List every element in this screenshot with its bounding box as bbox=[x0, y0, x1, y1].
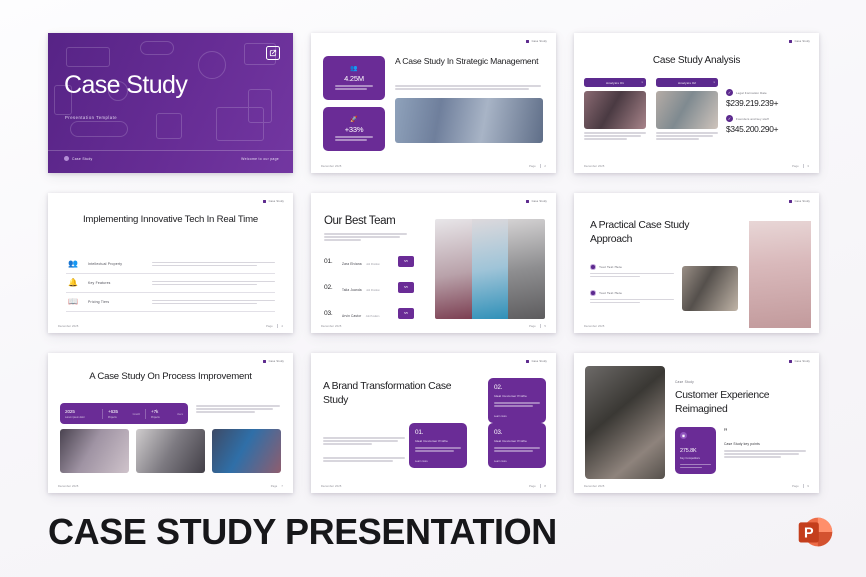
footer-page-number: 8 bbox=[544, 485, 546, 488]
photo-strip bbox=[60, 429, 281, 473]
badge-square-icon bbox=[526, 360, 529, 363]
bell-icon: 🔔 bbox=[66, 279, 80, 287]
slide-thumbnail-customer-experience[interactable]: Case Study Case Study Customer Experienc… bbox=[574, 353, 819, 493]
target-icon: ◉ bbox=[680, 432, 687, 439]
check-circle-icon: ✓ bbox=[726, 115, 733, 122]
feature-row-label: Key Features bbox=[88, 281, 144, 285]
analysis-stat-1-label: Legal Formation Date bbox=[736, 91, 767, 95]
footer-page: Page 2 bbox=[529, 164, 546, 168]
people-network-icon: 👥 bbox=[350, 66, 357, 72]
list-item: 02. Talia Juanda Job Position 5/5 bbox=[324, 278, 414, 296]
badge-square-icon bbox=[789, 40, 792, 43]
list-item: 01. Zara Elviana Job Position 5/5 bbox=[324, 252, 414, 270]
analysis-photo-2 bbox=[656, 91, 718, 129]
slide-title: Implementing Innovative Tech In Real Tim… bbox=[74, 214, 267, 227]
slide-thumbnail-brand-transformation[interactable]: Case Study A Brand Transformation Case S… bbox=[311, 353, 556, 493]
badge-square-icon bbox=[789, 360, 792, 363]
feature-rows: 👥 Intellectual Property 🔔 Key Features 📖… bbox=[66, 255, 275, 312]
kpi-card: ◉ 275.8K Key Competitors bbox=[675, 427, 716, 474]
list-item: 03. Arvin Castor Job Position 5/5 bbox=[324, 304, 414, 322]
users-group-icon: 👥 bbox=[66, 260, 80, 268]
slide-footer: December 2025 Page 8 bbox=[321, 484, 546, 488]
slide-footer: December 2025 bbox=[584, 325, 809, 328]
member-name: Arvin Castor bbox=[342, 314, 361, 318]
slide-paragraph-2 bbox=[323, 457, 405, 462]
slide-paragraph bbox=[196, 405, 280, 413]
badge-label: Case Study bbox=[269, 360, 284, 363]
footer-page-number: 2 bbox=[544, 165, 546, 168]
slide-thumbnail-case-study-analysis[interactable]: Case Study Case Study Analysis Analysis … bbox=[574, 33, 819, 173]
stat-card-1: 👥 4.25M bbox=[323, 56, 385, 100]
card-title: Ideal Customer Profile bbox=[494, 439, 540, 443]
analysis-tab-1[interactable]: Analysis 01 ▾ bbox=[584, 78, 646, 87]
approach-bullet-2: Your Text Here bbox=[590, 290, 674, 303]
member-role: Job Position bbox=[366, 315, 380, 318]
badge-square-icon bbox=[263, 200, 266, 203]
chevron-down-icon: ▾ bbox=[641, 81, 643, 84]
footer-date: December 2025 bbox=[584, 165, 604, 168]
footer-page-number: 4 bbox=[281, 325, 283, 328]
open-slide-icon[interactable] bbox=[266, 46, 280, 60]
slide-eyebrow: Case Study bbox=[675, 380, 694, 384]
member-index: 01. bbox=[324, 258, 337, 265]
slide-title: A Case Study On Process Improvement bbox=[72, 371, 269, 384]
member-index: 02. bbox=[324, 284, 337, 291]
badge-square-icon bbox=[263, 360, 266, 363]
footer-page-label: Page bbox=[792, 485, 799, 488]
analysis-stat-1: ✓ Legal Formation Date $239.219.239+ bbox=[726, 89, 810, 108]
footer-page-label: Page bbox=[266, 325, 273, 328]
slide-paragraph-1 bbox=[323, 437, 405, 445]
dot-ring-icon bbox=[590, 264, 596, 270]
stat-key: Projects bbox=[108, 416, 140, 419]
kpi-value: 275.8K bbox=[680, 448, 711, 454]
quote-mark-icon: ” bbox=[724, 429, 806, 436]
badge-label: Case Study bbox=[795, 360, 810, 363]
stat-card-1-value: 4.25M bbox=[344, 74, 364, 83]
analysis-caption-2 bbox=[656, 132, 718, 140]
stat-key: Lorem ipsum dolor bbox=[65, 416, 97, 419]
slide-title: Our Best Team bbox=[324, 215, 395, 227]
footer-page-label: Page bbox=[529, 165, 536, 168]
slide-footer: December 2025 Page 3 bbox=[584, 164, 809, 168]
feature-row: 👥 Intellectual Property bbox=[66, 255, 275, 274]
quote-block: ” Case Study key points bbox=[724, 429, 806, 458]
footer-page: Page 7 bbox=[271, 485, 283, 488]
footer-date: December 2025 bbox=[321, 165, 341, 168]
feature-row-label: Pricing Tiers bbox=[88, 300, 144, 304]
slide-thumbnail-innovative-tech[interactable]: Case Study Implementing Innovative Tech … bbox=[48, 193, 293, 333]
footer-date: December 2025 bbox=[58, 325, 78, 328]
badge-label: Case Study bbox=[795, 200, 810, 203]
analysis-stat-1-value: $239.219.239+ bbox=[726, 98, 810, 108]
kpi-text bbox=[680, 464, 711, 469]
card-text bbox=[415, 447, 461, 452]
analysis-tab-2[interactable]: Analysis 02 ▾ bbox=[656, 78, 718, 87]
slide-badge: Case Study bbox=[526, 200, 547, 203]
poster-title: CASE STUDY PRESENTATION bbox=[48, 511, 557, 553]
badge-label: Case Study bbox=[532, 360, 547, 363]
profile-card-01[interactable]: 01. Ideal Customer Profile Learn more bbox=[409, 423, 467, 468]
footer-page-number: 9 bbox=[807, 485, 809, 488]
kpi-label: Key Competitors bbox=[680, 457, 711, 460]
desk-collaboration-photo bbox=[585, 366, 665, 479]
footer-page-label: Page bbox=[792, 165, 799, 168]
footer-page-label: Page bbox=[271, 485, 278, 488]
card-learn-more-link[interactable]: Learn more bbox=[494, 415, 507, 418]
cover-title: Case Study bbox=[64, 71, 187, 100]
footer-page-number: 3 bbox=[807, 165, 809, 168]
slide-title: A Practical Case Study Approach bbox=[590, 219, 730, 247]
card-learn-more-link[interactable]: Learn more bbox=[494, 460, 507, 463]
slide-thumbnail-cover[interactable]: Case Study Presentation Template Case St… bbox=[48, 33, 293, 173]
badge-square-icon bbox=[789, 200, 792, 203]
cover-pattern bbox=[48, 33, 293, 173]
slide-title: Case Study Analysis bbox=[574, 55, 819, 66]
slide-paragraph bbox=[395, 85, 541, 90]
badge-label: Case Study bbox=[795, 40, 810, 43]
svg-text:P: P bbox=[804, 525, 814, 541]
slide-badge: Case Study bbox=[789, 40, 810, 43]
approach-bullet-1-heading: Your Text Here bbox=[599, 265, 622, 269]
member-rating-button[interactable]: 5/5 bbox=[398, 256, 414, 267]
slide-title: A Brand Transformation Case Study bbox=[323, 380, 453, 408]
card-number: 01. bbox=[415, 429, 461, 436]
cover-welcome: Welcome to our page bbox=[241, 157, 279, 161]
approach-bullet-1-text bbox=[590, 273, 674, 278]
analysis-caption-1 bbox=[584, 132, 646, 140]
slide-badge: Case Study bbox=[263, 200, 284, 203]
cover-brand: Case Study bbox=[64, 156, 93, 161]
slide-thumbnail-our-best-team[interactable]: Case Study Our Best Team 01. Zara Elvian… bbox=[311, 193, 556, 333]
slide-paragraph bbox=[324, 233, 407, 241]
card-title: Ideal Customer Profile bbox=[415, 439, 461, 443]
badge-label: Case Study bbox=[532, 40, 547, 43]
footer-page-label: Page bbox=[529, 485, 536, 488]
slide-footer: December 2025 Page 5 bbox=[321, 324, 546, 328]
slide-footer: December 2025 Page 9 bbox=[584, 484, 809, 488]
stat-card-2-caption bbox=[335, 136, 373, 141]
check-circle-icon: ✓ bbox=[726, 89, 733, 96]
feature-row-text bbox=[152, 281, 275, 286]
footer-page-number: 7 bbox=[281, 485, 283, 488]
card-number: 02. bbox=[494, 384, 540, 391]
dot-ring-icon bbox=[590, 290, 596, 296]
badge-square-icon bbox=[526, 40, 529, 43]
slide-thumbnail-strategic-management[interactable]: Case Study 👥 4.25M 🚀 +33% A Case Study I… bbox=[311, 33, 556, 173]
office-workshop-photo bbox=[682, 266, 738, 311]
analysis-tab-2-label: Analysis 02 bbox=[678, 81, 696, 85]
footer-date: December 2025 bbox=[584, 485, 604, 488]
approach-bullet-2-text bbox=[590, 299, 674, 304]
slide-badge: Case Study bbox=[526, 360, 547, 363]
analysis-tab-1-label: Analysis 01 bbox=[606, 81, 624, 85]
badge-label: Case Study bbox=[269, 200, 284, 203]
analysis-stat-2-label: Founders and key staff bbox=[736, 117, 769, 121]
feature-row-text bbox=[152, 300, 275, 305]
footer-date: December 2025 bbox=[58, 485, 78, 488]
footer-page-label: Page bbox=[529, 325, 536, 328]
member-rating-button[interactable]: 5/5 bbox=[398, 308, 414, 319]
footer-date: December 2025 bbox=[584, 325, 604, 328]
footer-page: Page 9 bbox=[792, 484, 809, 488]
footer-page: Page 8 bbox=[529, 484, 546, 488]
footer-page: Page 3 bbox=[792, 164, 809, 168]
slide-footer: December 2025 Page 4 bbox=[58, 324, 283, 328]
member-name: Zara Elviana bbox=[342, 262, 362, 266]
slide-footer: December 2025 Page 7 bbox=[58, 485, 283, 488]
stat-card-1-caption bbox=[335, 85, 373, 90]
slide-thumbnail-grid: Case Study Presentation Template Case St… bbox=[48, 33, 820, 493]
badge-label: Case Study bbox=[532, 200, 547, 203]
slide-footer: December 2025 Page 2 bbox=[321, 164, 546, 168]
stat-unit: Growth bbox=[133, 414, 140, 416]
member-role: Job Position bbox=[366, 263, 380, 266]
stat-card-2: 🚀 +33% bbox=[323, 107, 385, 151]
analysis-stats: ✓ Legal Formation Date $239.219.239+ ✓ F… bbox=[726, 89, 810, 141]
slide-badge: Case Study bbox=[789, 200, 810, 203]
analysis-stat-2: ✓ Founders and key staff $345.200.290+ bbox=[726, 115, 810, 134]
feature-row-text bbox=[152, 262, 275, 267]
team-member-list: 01. Zara Elviana Job Position 5/5 02. Ta… bbox=[324, 252, 414, 330]
slide-badge: Case Study bbox=[526, 40, 547, 43]
cover-brand-label: Case Study bbox=[72, 157, 93, 161]
three-team-members-photo bbox=[435, 219, 545, 319]
chevron-down-icon: ▾ bbox=[713, 81, 715, 84]
footer-date: December 2025 bbox=[321, 325, 341, 328]
profile-card-03[interactable]: 03. Ideal Customer Profile Learn more bbox=[488, 423, 546, 468]
quote-text bbox=[724, 450, 806, 458]
footer-page: Page 5 bbox=[529, 324, 546, 328]
lounge-conversation-photo bbox=[749, 221, 811, 328]
profile-card-02[interactable]: 02. Ideal Customer Profile Learn more bbox=[488, 378, 546, 423]
stat-bar: 2025 Lorem ipsum dolor +635 Projects Gro… bbox=[60, 403, 188, 424]
analysis-photo-1 bbox=[584, 91, 646, 129]
book-icon: 📖 bbox=[66, 298, 80, 306]
footer-page: Page 4 bbox=[266, 324, 283, 328]
stat-bar-cell-3: +7k Projects Users bbox=[145, 409, 188, 419]
slide-thumbnail-practical-approach[interactable]: Case Study A Practical Case Study Approa… bbox=[574, 193, 819, 333]
slide-badge: Case Study bbox=[263, 360, 284, 363]
footer-date: December 2025 bbox=[321, 485, 341, 488]
stat-bar-cell-1: 2025 Lorem ipsum dolor bbox=[60, 409, 102, 419]
slide-title: A Case Study In Strategic Management bbox=[395, 56, 543, 67]
stat-bar-cell-2: +635 Projects Growth bbox=[102, 409, 145, 419]
feature-row: 📖 Pricing Tiers bbox=[66, 293, 275, 312]
cover-subtitle: Presentation Template bbox=[65, 115, 117, 120]
stat-unit: Users bbox=[177, 414, 183, 416]
analysis-stat-2-value: $345.200.290+ bbox=[726, 124, 810, 134]
member-role: Job Position bbox=[366, 289, 380, 292]
card-number: 03. bbox=[494, 429, 540, 436]
card-text bbox=[494, 402, 540, 407]
quote-heading: Case Study key points bbox=[724, 442, 806, 446]
badge-square-icon bbox=[526, 200, 529, 203]
approach-bullet-1: Your Text Here bbox=[590, 264, 674, 277]
slide-badge: Case Study bbox=[789, 360, 810, 363]
member-name: Talia Juanda bbox=[342, 288, 362, 292]
footer-page-number: 5 bbox=[544, 325, 546, 328]
stat-card-2-value: +33% bbox=[345, 125, 364, 134]
rocket-icon: 🚀 bbox=[350, 117, 357, 123]
slide-thumbnail-process-improvement[interactable]: Case Study A Case Study On Process Impro… bbox=[48, 353, 293, 493]
feature-row-label: Intellectual Property bbox=[88, 262, 144, 266]
cover-divider bbox=[48, 150, 293, 151]
member-rating-button[interactable]: 5/5 bbox=[398, 282, 414, 293]
card-title: Ideal Customer Profile bbox=[494, 394, 540, 398]
stat-value: 2025 bbox=[65, 409, 97, 414]
card-text bbox=[494, 447, 540, 452]
member-index: 03. bbox=[324, 310, 337, 317]
slide-title: Customer Experience Reimagined bbox=[675, 389, 803, 417]
feature-row: 🔔 Key Features bbox=[66, 274, 275, 293]
stat-key: Projects bbox=[151, 416, 183, 419]
team-meeting-photo bbox=[395, 98, 543, 143]
card-learn-more-link[interactable]: Learn more bbox=[415, 460, 428, 463]
approach-bullet-2-heading: Your Text Here bbox=[599, 291, 622, 295]
brand-mark-icon bbox=[64, 156, 69, 161]
powerpoint-logo: P bbox=[792, 509, 838, 555]
